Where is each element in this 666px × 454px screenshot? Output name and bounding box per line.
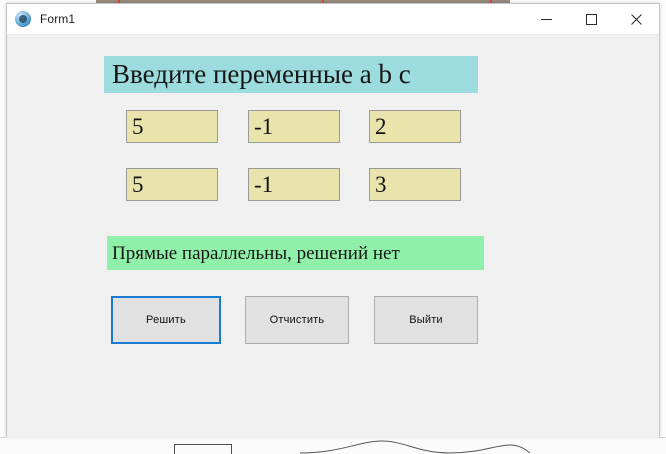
input-c2-value: 3 — [375, 173, 387, 196]
app-window: Form1 Введите переменные a b c 5 — [6, 3, 660, 437]
title-bar[interactable]: Form1 — [7, 4, 659, 35]
input-a2[interactable]: 5 — [126, 168, 218, 201]
input-c1[interactable]: 2 — [369, 110, 461, 143]
solve-button-label: Решить — [146, 314, 186, 326]
window-title: Form1 — [40, 12, 75, 26]
maximize-icon[interactable] — [569, 4, 614, 34]
input-b2[interactable]: -1 — [248, 168, 340, 201]
screenshot-root: Form1 Введите переменные a b c 5 — [0, 0, 666, 454]
clear-button[interactable]: Отчистить — [245, 296, 349, 344]
input-a1[interactable]: 5 — [126, 110, 218, 143]
result-banner: Прямые параллельны, решений нет — [107, 236, 484, 270]
form-client-area: Введите переменные a b c 5 -1 2 5 -1 3 — [7, 35, 659, 438]
clear-button-label: Отчистить — [270, 314, 325, 326]
result-message: Прямые параллельны, решений нет — [112, 244, 400, 263]
background-sketch-rectangle — [174, 444, 232, 454]
minimize-icon[interactable] — [524, 4, 569, 34]
background-sketch-curve — [300, 439, 530, 454]
close-icon[interactable] — [614, 4, 659, 34]
input-b1[interactable]: -1 — [248, 110, 340, 143]
window-controls — [524, 4, 659, 34]
heading-banner: Введите переменные a b c — [104, 56, 478, 93]
input-a2-value: 5 — [132, 173, 144, 196]
exit-button[interactable]: Выйти — [374, 296, 478, 344]
input-a1-value: 5 — [132, 115, 144, 138]
input-b1-value: -1 — [254, 115, 273, 138]
exit-button-label: Выйти — [409, 314, 443, 326]
page-title: Введите переменные a b c — [112, 61, 411, 88]
input-c1-value: 2 — [375, 115, 387, 138]
solve-button[interactable]: Решить — [111, 296, 221, 344]
input-c2[interactable]: 3 — [369, 168, 461, 201]
app-globe-icon — [15, 11, 31, 27]
input-b2-value: -1 — [254, 173, 273, 196]
